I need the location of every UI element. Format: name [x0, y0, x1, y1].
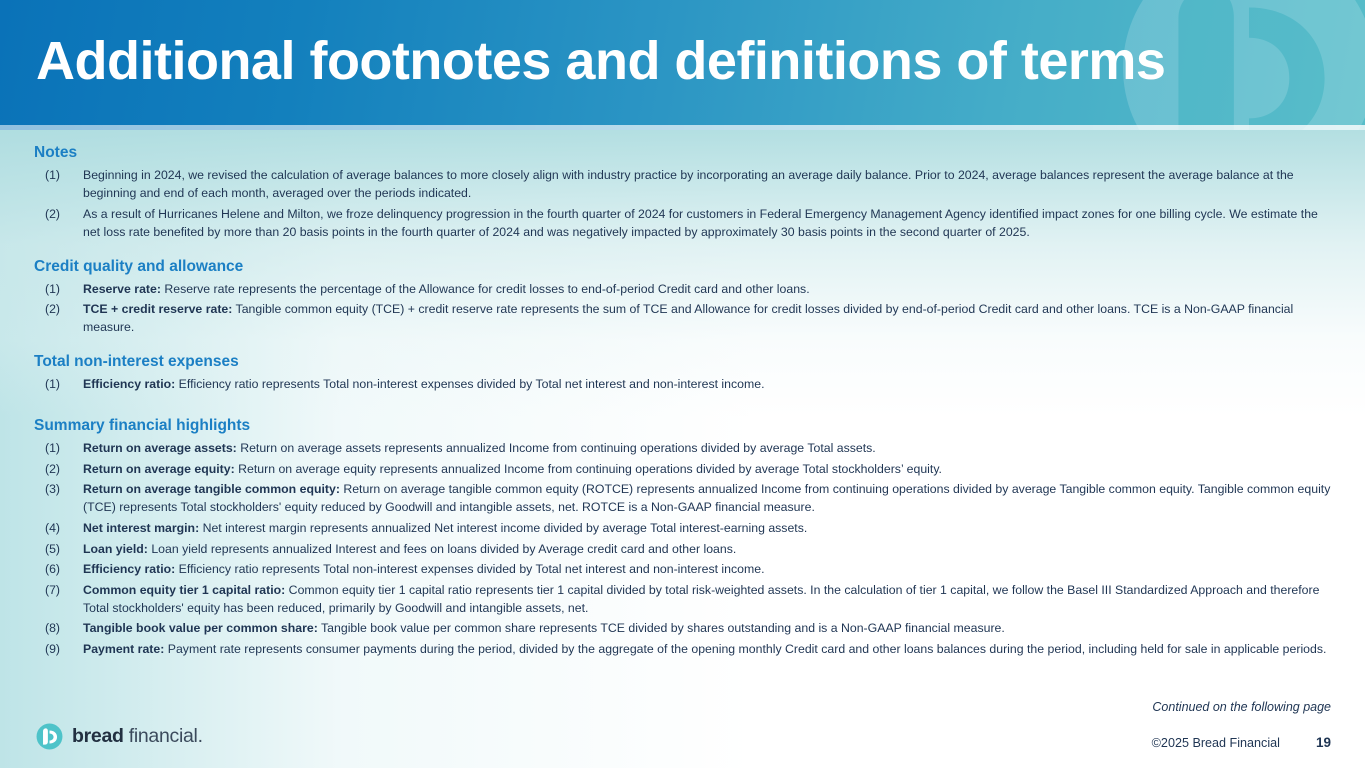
note-body: Tangible book value per common share rep… — [318, 621, 1005, 635]
note-text: Beginning in 2024, we revised the calcul… — [83, 166, 1331, 202]
note-number: (5) — [45, 540, 83, 558]
note-text: Common equity tier 1 capital ratio: Comm… — [83, 581, 1331, 617]
notes-list: (1) Reserve rate: Reserve rate represent… — [0, 280, 1365, 337]
note-body: Payment rate represents consumer payment… — [164, 642, 1326, 656]
list-item: (3) Return on average tangible common eq… — [0, 480, 1365, 516]
note-text: Efficiency ratio: Efficiency ratio repre… — [83, 560, 1331, 578]
note-body: Beginning in 2024, we revised the calcul… — [83, 168, 1294, 200]
section-heading: Credit quality and allowance — [34, 257, 1365, 278]
note-number: (2) — [45, 300, 83, 318]
note-text: Efficiency ratio: Efficiency ratio repre… — [83, 375, 1331, 393]
note-body: Reserve rate represents the percentage o… — [161, 282, 810, 296]
note-body: Return on average assets represents annu… — [237, 441, 876, 455]
list-item: (2) TCE + credit reserve rate: Tangible … — [0, 300, 1365, 336]
note-number: (2) — [45, 460, 83, 478]
note-lead: Return on average tangible common equity… — [83, 482, 340, 496]
section-heading: Total non-interest expenses — [34, 352, 1365, 373]
note-lead: Common equity tier 1 capital ratio: — [83, 583, 285, 597]
note-number: (4) — [45, 519, 83, 537]
list-item: (5) Loan yield: Loan yield represents an… — [0, 540, 1365, 558]
note-number: (1) — [45, 166, 83, 184]
note-body: Net interest margin represents annualize… — [199, 521, 807, 535]
list-item: (9) Payment rate: Payment rate represent… — [0, 640, 1365, 658]
brand-word-bread: bread — [72, 725, 124, 747]
note-text: Tangible book value per common share: Ta… — [83, 619, 1331, 637]
note-number: (8) — [45, 619, 83, 637]
notes-list: (1) Return on average assets: Return on … — [0, 439, 1365, 658]
list-item: (2) Return on average equity: Return on … — [0, 460, 1365, 478]
brand-word-financial: financial. — [124, 725, 203, 747]
note-lead: Payment rate: — [83, 642, 164, 656]
note-lead: Net interest margin: — [83, 521, 199, 535]
note-text: Payment rate: Payment rate represents co… — [83, 640, 1331, 658]
note-body: Loan yield represents annualized Interes… — [148, 542, 736, 556]
copyright-text: ©2025 Bread Financial — [1152, 736, 1280, 750]
bread-financial-mark-icon — [36, 723, 63, 750]
note-body: Efficiency ratio represents Total non-in… — [175, 562, 764, 576]
note-text: Loan yield: Loan yield represents annual… — [83, 540, 1331, 558]
list-item: (1) Efficiency ratio: Efficiency ratio r… — [0, 375, 1365, 393]
continued-note: Continued on the following page — [1152, 700, 1331, 714]
list-item: (8) Tangible book value per common share… — [0, 619, 1365, 637]
note-lead: Efficiency ratio: — [83, 562, 175, 576]
note-number: (3) — [45, 480, 83, 498]
section-credit-quality-and-allowance: Credit quality and allowance (1) Reserve… — [0, 257, 1365, 337]
note-body: Tangible common equity (TCE) + credit re… — [83, 302, 1293, 334]
list-item: (4) Net interest margin: Net interest ma… — [0, 519, 1365, 537]
section-total-non-interest-expenses: Total non-interest expenses (1) Efficien… — [0, 352, 1365, 393]
note-number: (6) — [45, 560, 83, 578]
section-heading: Summary financial highlights — [34, 416, 1365, 437]
note-body: Efficiency ratio represents Total non-in… — [175, 377, 764, 391]
notes-list: (1) Efficiency ratio: Efficiency ratio r… — [0, 375, 1365, 393]
list-item: (7) Common equity tier 1 capital ratio: … — [0, 581, 1365, 617]
list-item: (2) As a result of Hurricanes Helene and… — [0, 205, 1365, 241]
note-lead: TCE + credit reserve rate: — [83, 302, 232, 316]
list-item: (6) Efficiency ratio: Efficiency ratio r… — [0, 560, 1365, 578]
note-number: (9) — [45, 640, 83, 658]
note-text: Return on average tangible common equity… — [83, 480, 1331, 516]
section-notes: Notes (1) Beginning in 2024, we revised … — [0, 143, 1365, 241]
note-body: As a result of Hurricanes Helene and Mil… — [83, 207, 1318, 239]
note-number: (2) — [45, 205, 83, 223]
note-text: TCE + credit reserve rate: Tangible comm… — [83, 300, 1331, 336]
note-lead: Return on average equity: — [83, 462, 235, 476]
note-text: Return on average equity: Return on aver… — [83, 460, 1331, 478]
footer-meta: ©2025 Bread Financial 19 — [1152, 735, 1331, 750]
note-text: As a result of Hurricanes Helene and Mil… — [83, 205, 1331, 241]
note-text: Return on average assets: Return on aver… — [83, 439, 1331, 457]
section-summary-financial-highlights: Summary financial highlights (1) Return … — [0, 416, 1365, 658]
note-number: (1) — [45, 280, 83, 298]
list-item: (1) Reserve rate: Reserve rate represent… — [0, 280, 1365, 298]
note-body: Return on average equity represents annu… — [235, 462, 942, 476]
list-item: (1) Return on average assets: Return on … — [0, 439, 1365, 457]
note-number: (7) — [45, 581, 83, 599]
slide-header: Additional footnotes and definitions of … — [0, 0, 1365, 130]
note-number: (1) — [45, 375, 83, 393]
note-number: (1) — [45, 439, 83, 457]
brand-logo: bread financial. — [36, 723, 203, 750]
note-lead: Tangible book value per common share: — [83, 621, 318, 635]
brand-wordmark: bread financial. — [72, 725, 203, 748]
footnotes-content: Notes (1) Beginning in 2024, we revised … — [0, 130, 1365, 660]
list-item: (1) Beginning in 2024, we revised the ca… — [0, 166, 1365, 202]
note-lead: Return on average assets: — [83, 441, 237, 455]
note-lead: Reserve rate: — [83, 282, 161, 296]
note-text: Net interest margin: Net interest margin… — [83, 519, 1331, 537]
page-number: 19 — [1316, 735, 1331, 750]
page-title: Additional footnotes and definitions of … — [36, 33, 1165, 90]
note-text: Reserve rate: Reserve rate represents th… — [83, 280, 1331, 298]
note-lead: Efficiency ratio: — [83, 377, 175, 391]
notes-list: (1) Beginning in 2024, we revised the ca… — [0, 166, 1365, 241]
note-lead: Loan yield: — [83, 542, 148, 556]
section-heading: Notes — [34, 143, 1365, 164]
